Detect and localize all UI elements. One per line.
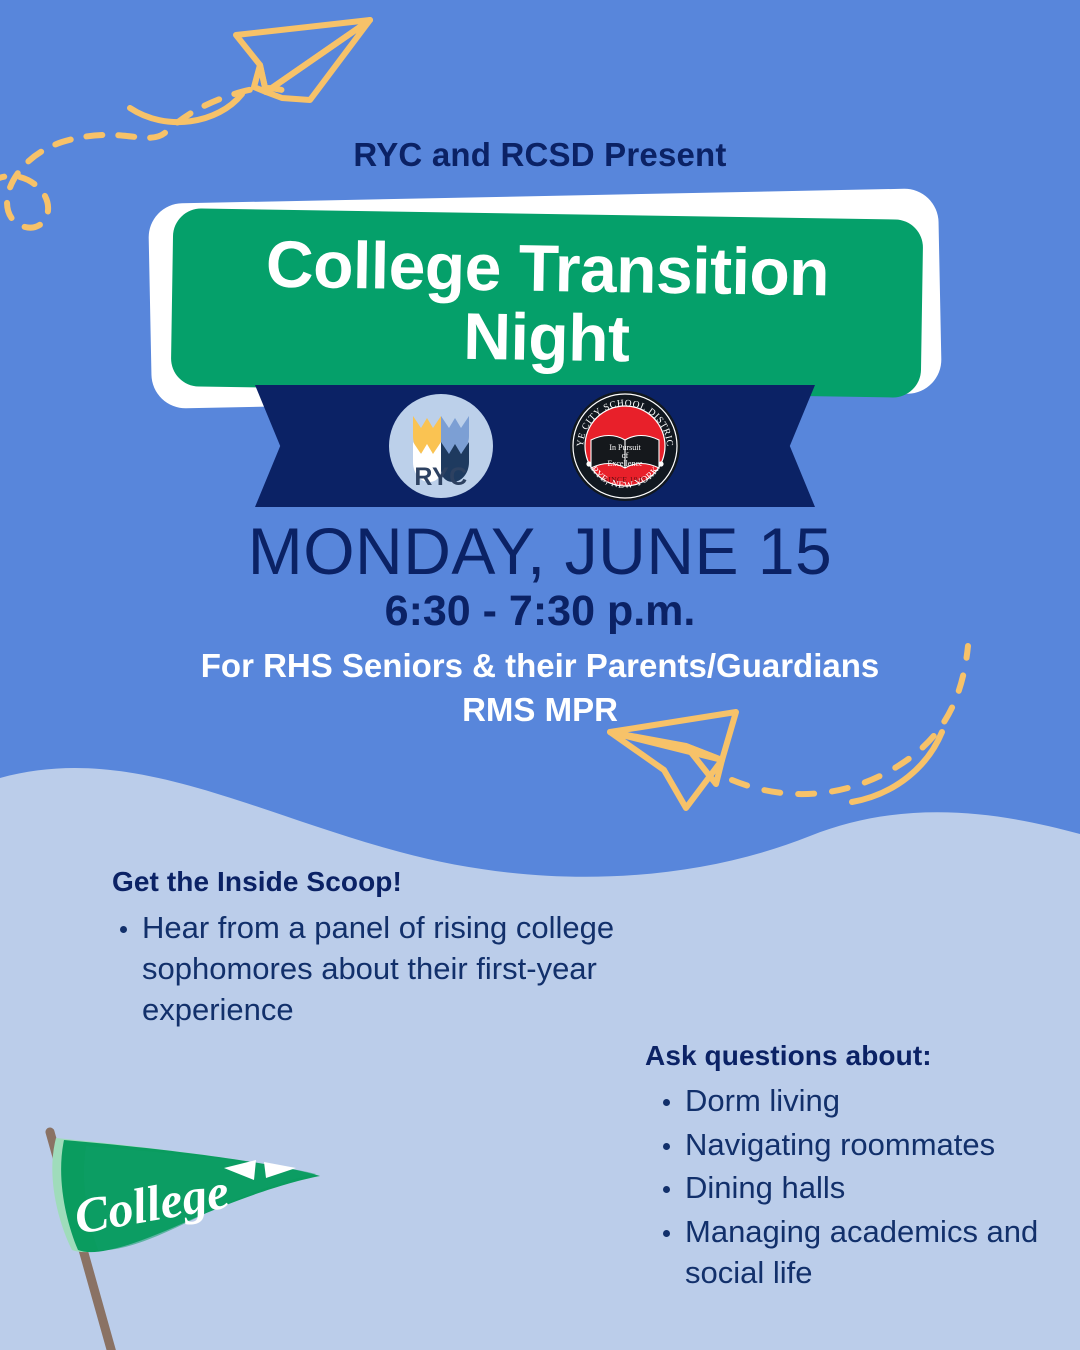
audience-line-1: For RHS Seniors & their Parents/Guardian… (0, 644, 1080, 688)
logo-ribbon: RYC In Pursuit of (255, 385, 815, 507)
rcsd-seal: In Pursuit of Excellence SINCE 1945 RYE … (569, 390, 681, 502)
inside-scoop-list: Hear from a panel of rising college soph… (112, 908, 652, 1031)
ask-questions-list: Dorm living Navigating roommates Dining … (645, 1080, 1045, 1294)
list-item: Managing academics and social life (657, 1211, 1045, 1294)
presents-line: RYC and RCSD Present (0, 136, 1080, 174)
rcsd-seal-icon: In Pursuit of Excellence SINCE 1945 RYE … (569, 390, 681, 502)
audience-line-2: RMS MPR (0, 688, 1080, 732)
page-title: College Transition Night (171, 208, 924, 398)
inside-scoop-section: Get the Inside Scoop! Hear from a panel … (112, 866, 652, 1033)
event-date: MONDAY, JUNE 15 (0, 518, 1080, 584)
ryc-logo-label: RYC (389, 465, 493, 490)
event-audience: For RHS Seniors & their Parents/Guardian… (0, 644, 1080, 731)
inside-scoop-heading: Get the Inside Scoop! (112, 866, 652, 898)
svg-text:Excellence: Excellence (607, 459, 643, 468)
ask-questions-section: Ask questions about: Dorm living Navigat… (645, 1040, 1045, 1296)
poster-canvas: RYC and RCSD Present College Transition … (0, 0, 1080, 1350)
list-item: Dining halls (657, 1167, 1045, 1209)
ryc-logo: RYC (389, 394, 493, 498)
list-item: Dorm living (657, 1080, 1045, 1122)
event-time: 6:30 - 7:30 p.m. (0, 588, 1080, 635)
college-pennant: College (28, 1110, 338, 1350)
list-item: Hear from a panel of rising college soph… (112, 908, 652, 1031)
title-sign: College Transition Night (150, 196, 940, 401)
ask-questions-heading: Ask questions about: (645, 1040, 1045, 1072)
list-item: Navigating roommates (657, 1124, 1045, 1166)
